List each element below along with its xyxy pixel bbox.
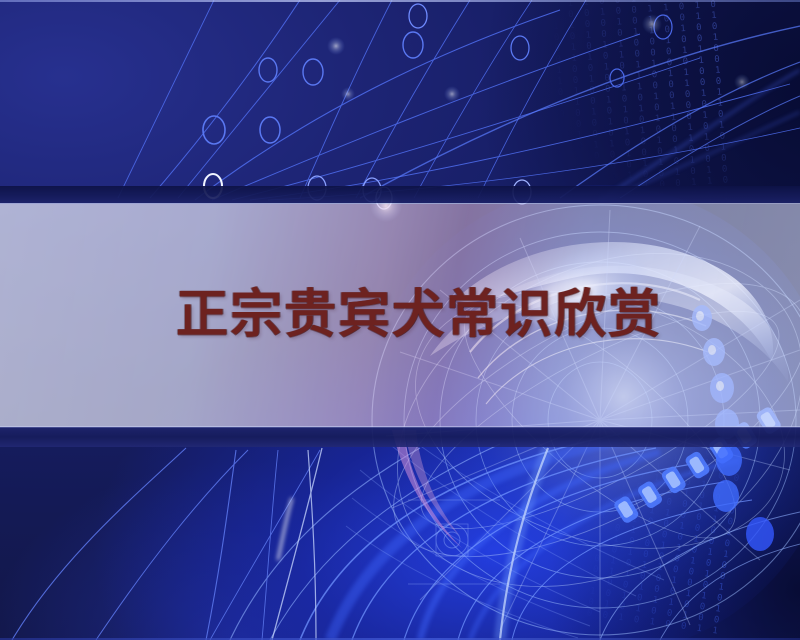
presentation-slide: 0 1 0 0 1 0 1 1 0 0 1 0 1 0 0 1 1 0 0 1 … [0,0,800,640]
slide-title: 正宗贵宾犬常识欣赏 [176,289,662,341]
title-container: 正宗贵宾犬常识欣赏 [0,204,800,426]
top-edge-line [0,0,800,2]
upper-dark-band [0,186,800,203]
lower-dark-band [0,427,800,447]
